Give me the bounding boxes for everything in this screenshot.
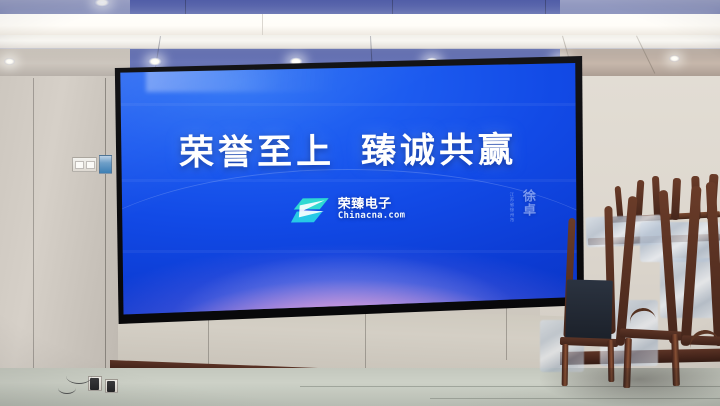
logo-company-en: Chinacna.com [338,211,406,221]
led-display-wall[interactable]: 荣誉至上臻诚共赢 荣臻电子 Chinacna.com 江苏省徐州市 徐卓 [112,56,584,324]
downlight [94,0,110,7]
panel-scanline [118,103,578,107]
display-watermark: 江苏省徐州市 徐卓 [508,189,536,223]
left-wall-seam [105,78,106,406]
power-adapter-plug [107,381,115,392]
power-cable [58,382,76,394]
room-photo-scene: 荣誉至上臻诚共赢 荣臻电子 Chinacna.com 江苏省徐州市 徐卓 [0,0,720,406]
ceiling-seam [545,0,546,14]
power-adapter-plug [90,378,99,390]
ceiling-seam [185,0,186,14]
wall-switch-plate[interactable] [72,157,97,172]
ceiling-light-strip [0,14,720,35]
headline-right: 臻诚共赢 [361,129,517,171]
rongzhen-arrow-logo-icon [291,197,331,223]
display-headline: 荣誉至上臻诚共赢 [118,121,578,176]
ceiling-panel-right [560,49,720,78]
blue-control-panel[interactable] [99,155,112,174]
switch-rocker[interactable] [86,161,95,169]
watermark-big-text: 徐卓 [517,189,536,217]
chair-cushion [565,279,613,342]
panel-scanline [118,250,578,253]
panel-scanline [118,179,578,182]
furniture-shadow [540,368,720,406]
company-logo: 荣臻电子 Chinacna.com [291,196,406,223]
downlight [669,55,680,62]
headline-left: 荣誉至上 [179,131,335,173]
left-wall-seam [33,78,34,406]
left-wall-panel [0,76,122,406]
light-strip-joint [262,14,263,35]
watermark-small-text: 江苏省徐州市 [508,192,514,223]
switch-rocker[interactable] [75,161,84,169]
downlight [4,58,15,65]
display-panel[interactable]: 荣誉至上臻诚共赢 荣臻电子 Chinacna.com 江苏省徐州市 徐卓 [118,62,578,316]
ceiling-panel-left [0,49,130,78]
ceiling-seam [392,0,393,14]
